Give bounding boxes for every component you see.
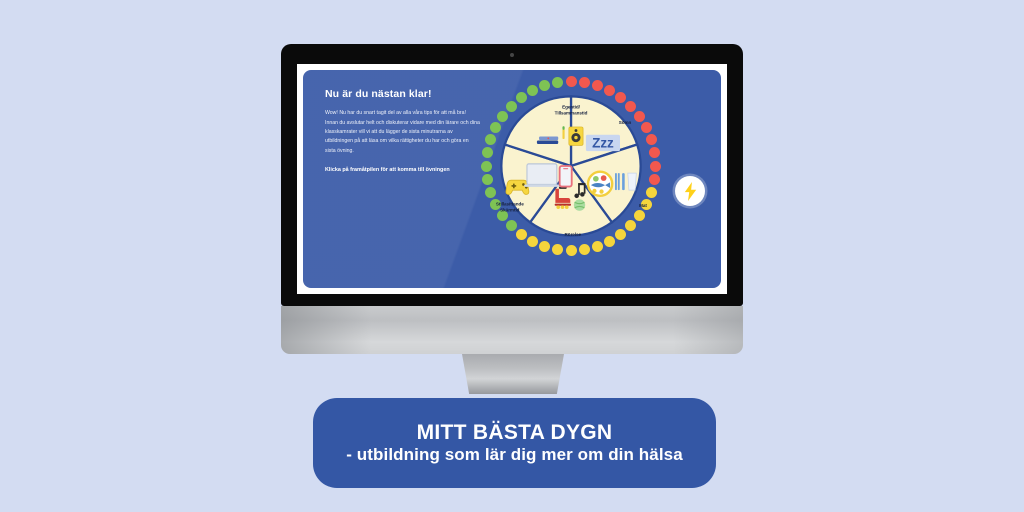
paintbrush-icon <box>562 126 564 139</box>
ring-dot <box>539 80 550 91</box>
slide-heading: Nu är du nästan klar! <box>325 88 480 100</box>
smartphone-icon <box>560 166 572 187</box>
chin-shadow-right <box>673 306 743 354</box>
ring-dot <box>604 236 615 247</box>
lightning-badge[interactable] <box>675 176 705 206</box>
ring-dot <box>552 244 563 255</box>
wheel-segments: Zzz <box>500 95 642 237</box>
wheel-label-mat: Mat <box>639 203 647 209</box>
ring-dot <box>592 241 603 252</box>
wheel-label-somn: Sömn <box>619 120 632 126</box>
ring-dot <box>485 187 496 198</box>
daily-routine-wheel: Zzz <box>481 76 661 256</box>
water-glass-icon <box>628 173 637 190</box>
ring-dot <box>566 245 577 256</box>
slide-text-block: Nu är du nästan klar! Wow! Nu har du sna… <box>325 88 480 176</box>
ring-dot <box>539 241 550 252</box>
plate-of-food-icon <box>588 172 612 196</box>
ring-dot <box>650 161 661 172</box>
slide-body-text: Wow! Nu har du snart tagit del av alla v… <box>325 109 480 156</box>
ring-dot <box>646 187 657 198</box>
ring-dot <box>579 77 590 88</box>
ring-dot <box>646 134 657 145</box>
banner-title: MITT BÄSTA DYGN <box>417 421 613 445</box>
ring-dot <box>592 80 603 91</box>
ring-dot <box>566 76 577 87</box>
zzz-sleep-icon: Zzz <box>586 135 620 151</box>
wheel-label-rorelse: Rörelse <box>565 232 582 238</box>
slide-cta-text: Klicka på framåtpilen för att komma till… <box>325 166 480 175</box>
presentation-slide: Nu är du nästan klar! Wow! Nu har du sna… <box>303 70 721 288</box>
speaker-icon <box>569 127 583 145</box>
ring-dot <box>527 236 538 247</box>
monitor-chin <box>281 306 743 354</box>
ring-dot <box>485 134 496 145</box>
svg-text:Zzz: Zzz <box>592 136 614 151</box>
ring-dot <box>552 77 563 88</box>
title-banner: MITT BÄSTA DYGN - utbildning som lär dig… <box>313 398 716 488</box>
ring-dot <box>579 244 590 255</box>
wheel-label-egentid: Egentid/ Tillsammanstid <box>555 104 588 115</box>
lightning-bolt-icon <box>683 182 698 201</box>
monitor-frame: Nu är du nästan klar! Wow! Nu har du sna… <box>281 44 743 306</box>
banner-subtitle: - utbildning som lär dig mer om din häls… <box>346 445 683 465</box>
screen-panel: Nu är du nästan klar! Wow! Nu har du sna… <box>297 64 727 294</box>
ring-dot <box>649 174 660 185</box>
chin-shadow-left <box>281 306 371 354</box>
monitor-stand-neck <box>462 354 564 394</box>
wheel-label-skarmtid: Stillasittande Skärmtid <box>496 202 524 213</box>
ring-dot <box>481 161 492 172</box>
laptop-icon <box>524 164 560 187</box>
ring-dot <box>649 147 660 158</box>
camera-dot-icon <box>510 53 514 57</box>
ring-dot <box>641 122 652 133</box>
ball-icon <box>574 199 585 210</box>
ring-dot <box>482 174 493 185</box>
ring-dot <box>482 147 493 158</box>
